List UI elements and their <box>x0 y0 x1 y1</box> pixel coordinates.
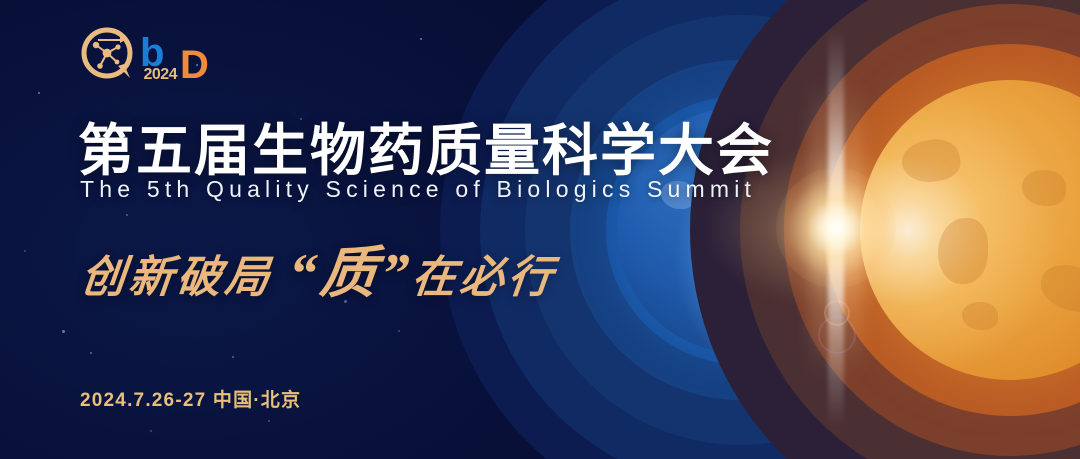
star <box>38 92 40 94</box>
continent-shape <box>962 302 998 330</box>
star <box>126 214 128 216</box>
slogan-part-two: 在必行 <box>409 253 558 302</box>
page-title-english: The 5th Quality Science of Biologics Sum… <box>80 176 756 203</box>
continent-shape <box>1022 170 1066 206</box>
star <box>62 330 65 333</box>
logo-year: 2024 <box>143 66 177 84</box>
star <box>90 352 92 354</box>
star <box>24 250 26 252</box>
star <box>268 420 270 422</box>
slogan-calligraphy: 创新破局 “质”在必行 <box>78 228 562 309</box>
lens-flare-ghost-icon <box>818 316 856 354</box>
page-title-chinese: 第五届生物药质量科学大会 <box>78 106 774 187</box>
event-logo[interactable]: b 2024 D <box>80 22 209 82</box>
logo-letter-d: D <box>180 47 209 84</box>
continent-shape <box>1036 259 1080 317</box>
event-date-location: 2024.7.26-27 中国·北京 <box>80 385 301 412</box>
star <box>398 330 400 332</box>
slogan-part-one: 创新破局 <box>78 253 275 302</box>
conference-banner: b 2024 D 第五届生物药质量科学大会 The 5th Quality Sc… <box>0 0 1080 459</box>
molecule-speech-bubble-icon <box>80 26 136 82</box>
star <box>150 430 152 432</box>
star <box>232 356 234 358</box>
sunrise-light-flare-core <box>776 168 896 288</box>
slogan-keyword: 质 <box>317 243 384 305</box>
star <box>420 38 422 40</box>
